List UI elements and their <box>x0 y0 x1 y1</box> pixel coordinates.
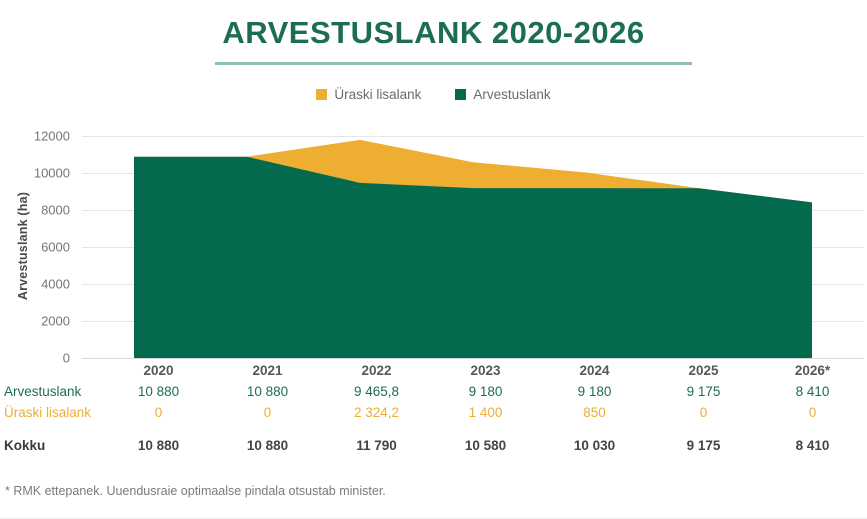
legend-label: Üraski lisalank <box>334 87 421 102</box>
cell-kokku-2021: 10 880 <box>213 434 322 456</box>
table-header-row: 2020 2021 2022 2023 2024 2025 2026* <box>0 359 867 381</box>
column-header-2025: 2025 <box>649 359 758 381</box>
cell-uraski-2022: 2 324,2 <box>322 402 431 423</box>
chart-title-block: ARVESTUSLANK 2020-2026 <box>0 14 867 52</box>
stacked-area-plot <box>0 120 867 365</box>
table-row-uraski-lisalank: Üraski lisalank 0 0 2 324,2 1 400 850 0 … <box>0 402 867 423</box>
row-label-kokku: Kokku <box>0 434 104 456</box>
legend-label: Arvestuslank <box>473 87 550 102</box>
column-header-2023: 2023 <box>431 359 540 381</box>
chart-plot-area: Arvestuslank (ha) 0 2000 4000 6000 8000 … <box>0 120 867 365</box>
cell-uraski-2020: 0 <box>104 402 213 423</box>
cell-kokku-2022: 11 790 <box>322 434 431 456</box>
page-title: ARVESTUSLANK 2020-2026 <box>0 14 867 52</box>
square-marker-icon <box>316 89 327 100</box>
cell-uraski-2026: 0 <box>758 402 867 423</box>
cell-uraski-2021: 0 <box>213 402 322 423</box>
cell-arvestuslank-2025: 9 175 <box>649 381 758 402</box>
column-header-2020: 2020 <box>104 359 213 381</box>
square-marker-icon <box>455 89 466 100</box>
cell-arvestuslank-2021: 10 880 <box>213 381 322 402</box>
column-header-2026: 2026* <box>758 359 867 381</box>
cell-arvestuslank-2020: 10 880 <box>104 381 213 402</box>
cell-kokku-2025: 9 175 <box>649 434 758 456</box>
column-header-2021: 2021 <box>213 359 322 381</box>
column-header-2024: 2024 <box>540 359 649 381</box>
legend-item-arvestuslank[interactable]: Arvestuslank <box>455 87 550 102</box>
cell-kokku-2026: 8 410 <box>758 434 867 456</box>
cell-arvestuslank-2023: 9 180 <box>431 381 540 402</box>
cell-uraski-2024: 850 <box>540 402 649 423</box>
cell-kokku-2024: 10 030 <box>540 434 649 456</box>
table-row-arvestuslank: Arvestuslank 10 880 10 880 9 465,8 9 180… <box>0 381 867 402</box>
cell-uraski-2025: 0 <box>649 402 758 423</box>
table-corner-cell <box>0 359 104 381</box>
cell-kokku-2023: 10 580 <box>431 434 540 456</box>
cell-arvestuslank-2022: 9 465,8 <box>322 381 431 402</box>
cell-kokku-2020: 10 880 <box>104 434 213 456</box>
column-header-2022: 2022 <box>322 359 431 381</box>
cell-arvestuslank-2026: 8 410 <box>758 381 867 402</box>
cell-uraski-2023: 1 400 <box>431 402 540 423</box>
legend-item-uraski-lisalank[interactable]: Üraski lisalank <box>316 87 421 102</box>
table-row-kokku: Kokku 10 880 10 880 11 790 10 580 10 030… <box>0 434 867 456</box>
title-underline-rule <box>215 62 692 65</box>
data-table: 2020 2021 2022 2023 2024 2025 2026* Arve… <box>0 359 867 456</box>
table-spacer-row <box>0 423 867 434</box>
row-label-uraski-lisalank: Üraski lisalank <box>0 402 104 423</box>
table-spacer-cell <box>0 423 867 434</box>
row-label-arvestuslank: Arvestuslank <box>0 381 104 402</box>
footnote-text: * RMK ettepanek. Uuendusraie optimaalse … <box>5 484 386 498</box>
cell-arvestuslank-2024: 9 180 <box>540 381 649 402</box>
chart-legend: Üraski lisalank Arvestuslank <box>0 87 867 102</box>
